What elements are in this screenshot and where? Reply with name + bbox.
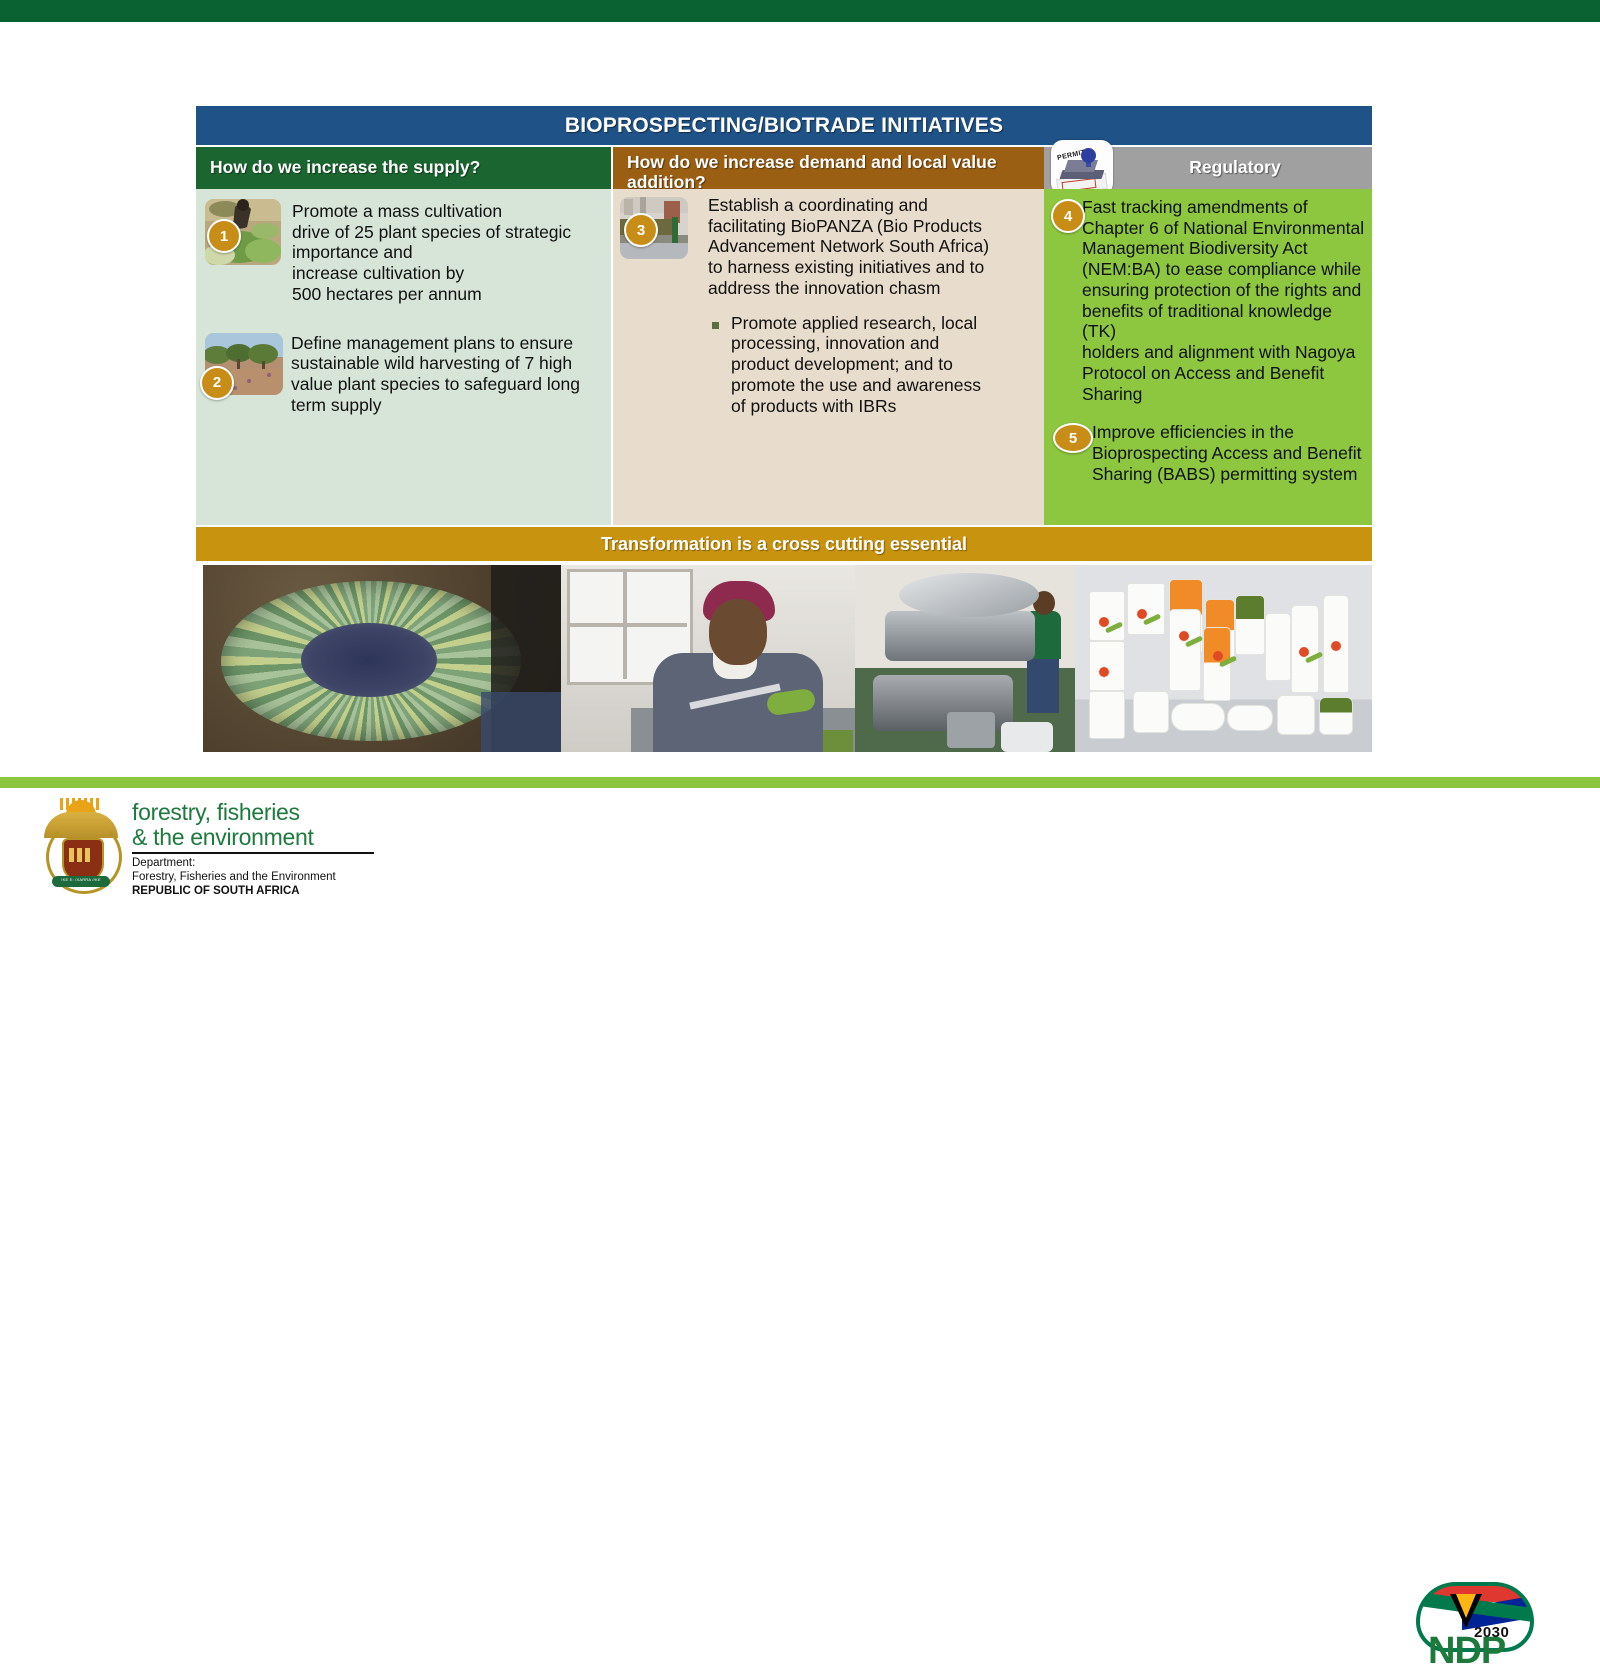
list-item-text: Promote a mass cultivation drive of 25 p… <box>292 201 571 305</box>
list-item: 3 <box>617 197 1041 299</box>
ndp-2030-logo: NDP 2030 <box>1412 1580 1542 1670</box>
aloe-harvest-pit-photo <box>203 565 561 752</box>
list-item: 4 Fast tracking amendments of Chapter 6 … <box>1048 197 1368 404</box>
department-branding: forestry, fisheries & the environment De… <box>132 800 472 898</box>
thumb-wrap: 3 <box>617 197 688 299</box>
column-demand: How do we increase demand and local valu… <box>613 147 1047 525</box>
list-item: 1 <box>200 199 607 305</box>
brand-line-2: & the environment <box>132 825 472 850</box>
square-bullet-icon <box>712 322 719 329</box>
light-green-divider <box>0 777 1600 788</box>
aloe-product-range-photo <box>1075 565 1372 752</box>
top-green-bar <box>0 0 1600 22</box>
column-demand-body: 3 <box>613 189 1047 525</box>
ndp-logo-year: 2030 <box>1474 1624 1509 1641</box>
item-number-badge: 4 <box>1051 199 1085 233</box>
sub-bullet-item: Promote applied research, local processi… <box>712 313 1041 417</box>
list-item-text: Define management plans to ensure sustai… <box>291 333 580 416</box>
column-regulatory: PERMIT Regulatory 4 Fast tracking amendm… <box>1044 147 1372 525</box>
item-number-badge: 5 <box>1053 423 1093 453</box>
column-demand-header-label: How do we increase demand and local valu… <box>627 149 1037 192</box>
brand-line-1: forestry, fisheries <box>132 800 472 825</box>
list-item-text: Establish a coordinating and facilitatin… <box>708 195 989 299</box>
columns-container: How do we increase the supply? 1 <box>196 147 1372 525</box>
woman-cutting-aloe-photo <box>561 565 855 752</box>
column-supply: How do we increase the supply? 1 <box>196 147 611 525</box>
sub-bullet-text: Promote applied research, local processi… <box>731 313 981 417</box>
footer: !KE E: /XARRA //KE forestry, fisheries &… <box>0 788 1600 900</box>
brand-divider <box>132 852 374 854</box>
permit-stamp-icon: PERMIT <box>1051 140 1113 195</box>
coat-of-arms-motto: !KE E: /XARRA //KE <box>54 877 108 882</box>
transformation-banner-label: Transformation is a cross cutting essent… <box>601 534 967 555</box>
thumb-wrap: 2 <box>200 333 283 416</box>
department-country: REPUBLIC OF SOUTH AFRICA <box>132 884 472 898</box>
column-regulatory-body: 4 Fast tracking amendments of Chapter 6 … <box>1044 189 1372 525</box>
column-supply-header-label: How do we increase the supply? <box>210 158 480 178</box>
column-supply-body: 1 <box>196 189 611 525</box>
department-name: Forestry, Fisheries and the Environment <box>132 870 472 884</box>
column-regulatory-header-label: Regulatory <box>1189 158 1280 178</box>
slide-title-bar: BIOPROSPECTING/BIOTRADE INITIATIVES <box>196 106 1372 145</box>
column-supply-header: How do we increase the supply? <box>196 147 611 189</box>
item-number-badge: 2 <box>200 366 234 400</box>
photo-strip <box>203 565 1372 752</box>
department-label: Department: <box>132 856 472 870</box>
column-regulatory-header: PERMIT Regulatory <box>1044 147 1372 189</box>
column-demand-header: How do we increase demand and local valu… <box>613 147 1047 189</box>
list-item: 5 Improve efficiencies in the Bioprospec… <box>1048 422 1368 484</box>
list-item-text: Improve efficiencies in the Bioprospecti… <box>1092 422 1368 484</box>
transformation-banner: Transformation is a cross cutting essent… <box>196 527 1372 561</box>
item-number-badge: 1 <box>207 219 241 253</box>
page-title: BIOPROSPECTING/BIOTRADE INITIATIVES <box>565 114 1003 138</box>
slide-canvas: BIOPROSPECTING/BIOTRADE INITIATIVES How … <box>0 22 1600 777</box>
aloe-processing-vats-photo <box>855 565 1075 752</box>
thumb-wrap: 1 <box>200 199 281 305</box>
list-item: 2 <box>200 333 607 416</box>
item-number-badge: 3 <box>624 213 658 247</box>
south-africa-coat-of-arms-icon: !KE E: /XARRA //KE <box>38 798 124 890</box>
list-item-text: Fast tracking amendments of Chapter 6 of… <box>1082 197 1368 404</box>
